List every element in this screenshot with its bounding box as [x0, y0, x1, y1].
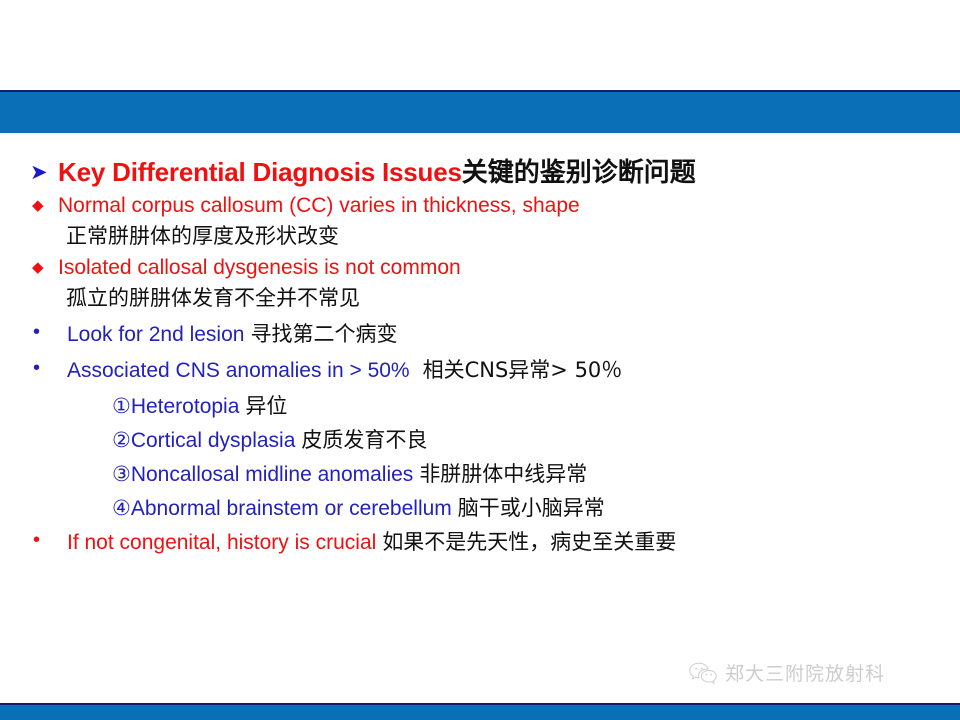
slide-canvas: ➤ Key Differential Diagnosis Issues 关键的鉴…: [0, 0, 960, 720]
numbered-item-4: ④ Abnormal brainstem or cerebellum 脑干或小脑…: [0, 492, 960, 522]
numbered-item-1-chinese: 异位: [245, 390, 287, 420]
dot-item-2-chinese: 相关CNS异常> 50％: [423, 354, 623, 384]
numbered-item-4-english: Abnormal brainstem or cerebellum: [131, 497, 452, 521]
slide-title-line: ➤ Key Differential Diagnosis Issues 关键的鉴…: [0, 152, 960, 189]
dot-bullet-icon: •: [33, 322, 67, 342]
diamond-item-1: ◆ Normal corpus callosum (CC) varies in …: [0, 194, 960, 218]
numbered-item-3-english: Noncallosal midline anomalies: [131, 463, 413, 487]
bottom-blue-band: [0, 705, 960, 720]
numbered-item-3-chinese: 非胼肼体中线异常: [419, 458, 587, 488]
dot-item-2-english: Associated CNS anomalies in > 50%: [67, 359, 410, 383]
watermark: 郑大三附院放射科: [688, 659, 885, 686]
dot-item-2: • Associated CNS anomalies in > 50% 相关CN…: [0, 354, 960, 384]
slide-body: ➤ Key Differential Diagnosis Issues 关键的鉴…: [0, 152, 960, 562]
dot-item-1-english: Look for 2nd lesion: [67, 323, 244, 347]
watermark-text: 郑大三附院放射科: [725, 659, 885, 686]
numbered-item-1: ① Heterotopia 异位: [0, 390, 960, 420]
final-item-english: If not congenital, history is crucial: [67, 531, 376, 555]
diamond-bullet-icon: ◆: [32, 196, 58, 214]
diamond-item-1-english: Normal corpus callosum (CC) varies in th…: [58, 194, 580, 218]
numbered-item-3: ③ Noncallosal midline anomalies 非胼肼体中线异常: [0, 458, 960, 488]
numbered-item-1-english: Heterotopia: [131, 395, 240, 419]
final-dot-item: • If not congenital, history is crucial …: [0, 526, 960, 556]
dot-item-1-chinese: 寻找第二个病变: [250, 318, 397, 348]
dot-bullet-icon: •: [33, 530, 67, 550]
arrow-bullet-icon: ➤: [30, 162, 58, 183]
wechat-icon: [688, 661, 718, 685]
circled-number-icon: ③: [112, 462, 131, 486]
diamond-item-2: ◆ Isolated callosal dysgenesis is not co…: [0, 256, 960, 280]
numbered-item-2-chinese: 皮质发育不良: [301, 424, 427, 454]
diamond-item-1-chinese-line: 正常胼肼体的厚度及形状改变: [0, 220, 960, 250]
circled-number-icon: ①: [112, 394, 131, 418]
diamond-item-2-chinese: 孤立的胼肼体发育不全并不常见: [66, 282, 360, 312]
diamond-bullet-icon: ◆: [32, 258, 58, 276]
dot-bullet-icon: •: [33, 358, 67, 378]
diamond-item-2-chinese-line: 孤立的胼肼体发育不全并不常见: [0, 282, 960, 312]
dot-item-1: • Look for 2nd lesion 寻找第二个病变: [0, 318, 960, 348]
circled-number-icon: ④: [112, 496, 131, 520]
numbered-item-2-english: Cortical dysplasia: [131, 429, 296, 453]
title-chinese: 关键的鉴别诊断问题: [462, 152, 696, 189]
top-blue-band: [0, 92, 960, 133]
title-english: Key Differential Diagnosis Issues: [58, 157, 462, 188]
diamond-item-2-english: Isolated callosal dysgenesis is not comm…: [58, 256, 461, 280]
numbered-item-4-chinese: 脑干或小脑异常: [458, 492, 605, 522]
final-item-chinese: 如果不是先天性，病史至关重要: [382, 526, 676, 556]
circled-number-icon: ②: [112, 428, 131, 452]
numbered-item-2: ② Cortical dysplasia 皮质发育不良: [0, 424, 960, 454]
diamond-item-1-chinese: 正常胼肼体的厚度及形状改变: [66, 220, 339, 250]
